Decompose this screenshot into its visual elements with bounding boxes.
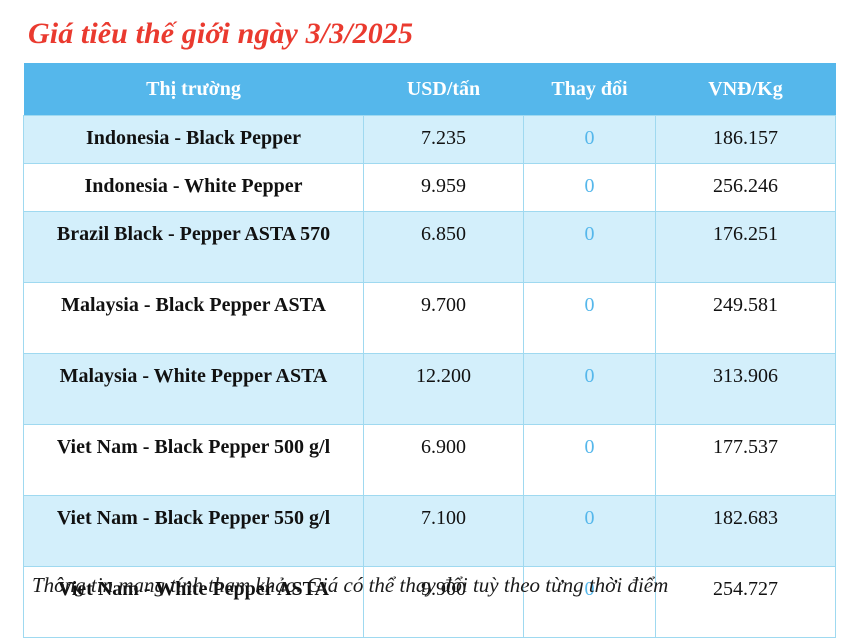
cell-usd: 7.235 (364, 116, 524, 164)
table-row: Brazil Black - Pepper ASTA 570 6.850 0 1… (24, 212, 836, 283)
table-row: Viet Nam - Black Pepper 550 g/l 7.100 0 … (24, 496, 836, 567)
cell-vnd: 186.157 (656, 116, 836, 164)
cell-market: Indonesia - Black Pepper (24, 116, 364, 164)
cell-market: Malaysia - Black Pepper ASTA (24, 283, 364, 354)
cell-usd: 9.959 (364, 164, 524, 212)
cell-vnd: 313.906 (656, 354, 836, 425)
cell-vnd: 249.581 (656, 283, 836, 354)
table-row: Indonesia - White Pepper 9.959 0 256.246 (24, 164, 836, 212)
cell-market: Brazil Black - Pepper ASTA 570 (24, 212, 364, 283)
table-row: Malaysia - Black Pepper ASTA 9.700 0 249… (24, 283, 836, 354)
column-header-change: Thay đổi (524, 63, 656, 116)
cell-usd: 6.900 (364, 425, 524, 496)
cell-change: 0 (524, 354, 656, 425)
cell-change: 0 (524, 425, 656, 496)
cell-usd: 7.100 (364, 496, 524, 567)
cell-market: Viet Nam - Black Pepper 500 g/l (24, 425, 364, 496)
cell-vnd: 256.246 (656, 164, 836, 212)
table-header: Thị trường USD/tấn Thay đổi VNĐ/Kg (24, 63, 836, 116)
cell-change: 0 (524, 116, 656, 164)
cell-change: 0 (524, 164, 656, 212)
world-pepper-price-table: Thị trường USD/tấn Thay đổi VNĐ/Kg Indon… (23, 63, 836, 638)
cell-change: 0 (524, 496, 656, 567)
page-title: Giá tiêu thế giới ngày 3/3/2025 (28, 17, 413, 51)
cell-market: Malaysia - White Pepper ASTA (24, 354, 364, 425)
cell-change: 0 (524, 283, 656, 354)
column-header-market: Thị trường (24, 63, 364, 116)
cell-vnd: 176.251 (656, 212, 836, 283)
cell-change: 0 (524, 212, 656, 283)
column-header-usd: USD/tấn (364, 63, 524, 116)
table-body: Indonesia - Black Pepper 7.235 0 186.157… (24, 116, 836, 638)
cell-usd: 6.850 (364, 212, 524, 283)
table-header-row: Thị trường USD/tấn Thay đổi VNĐ/Kg (24, 63, 836, 116)
cell-market: Indonesia - White Pepper (24, 164, 364, 212)
cell-usd: 12.200 (364, 354, 524, 425)
disclaimer-note: Thông tin mang tính tham khảo. Giá có th… (32, 572, 844, 598)
table-row: Malaysia - White Pepper ASTA 12.200 0 31… (24, 354, 836, 425)
price-table-container: Thị trường USD/tấn Thay đổi VNĐ/Kg Indon… (23, 63, 835, 638)
cell-vnd: 177.537 (656, 425, 836, 496)
table-row: Viet Nam - Black Pepper 500 g/l 6.900 0 … (24, 425, 836, 496)
cell-vnd: 182.683 (656, 496, 836, 567)
column-header-vnd: VNĐ/Kg (656, 63, 836, 116)
cell-market: Viet Nam - Black Pepper 550 g/l (24, 496, 364, 567)
cell-usd: 9.700 (364, 283, 524, 354)
pepper-price-page: Giá tiêu thế giới ngày 3/3/2025 Thị trườ… (0, 0, 854, 615)
table-row: Indonesia - Black Pepper 7.235 0 186.157 (24, 116, 836, 164)
